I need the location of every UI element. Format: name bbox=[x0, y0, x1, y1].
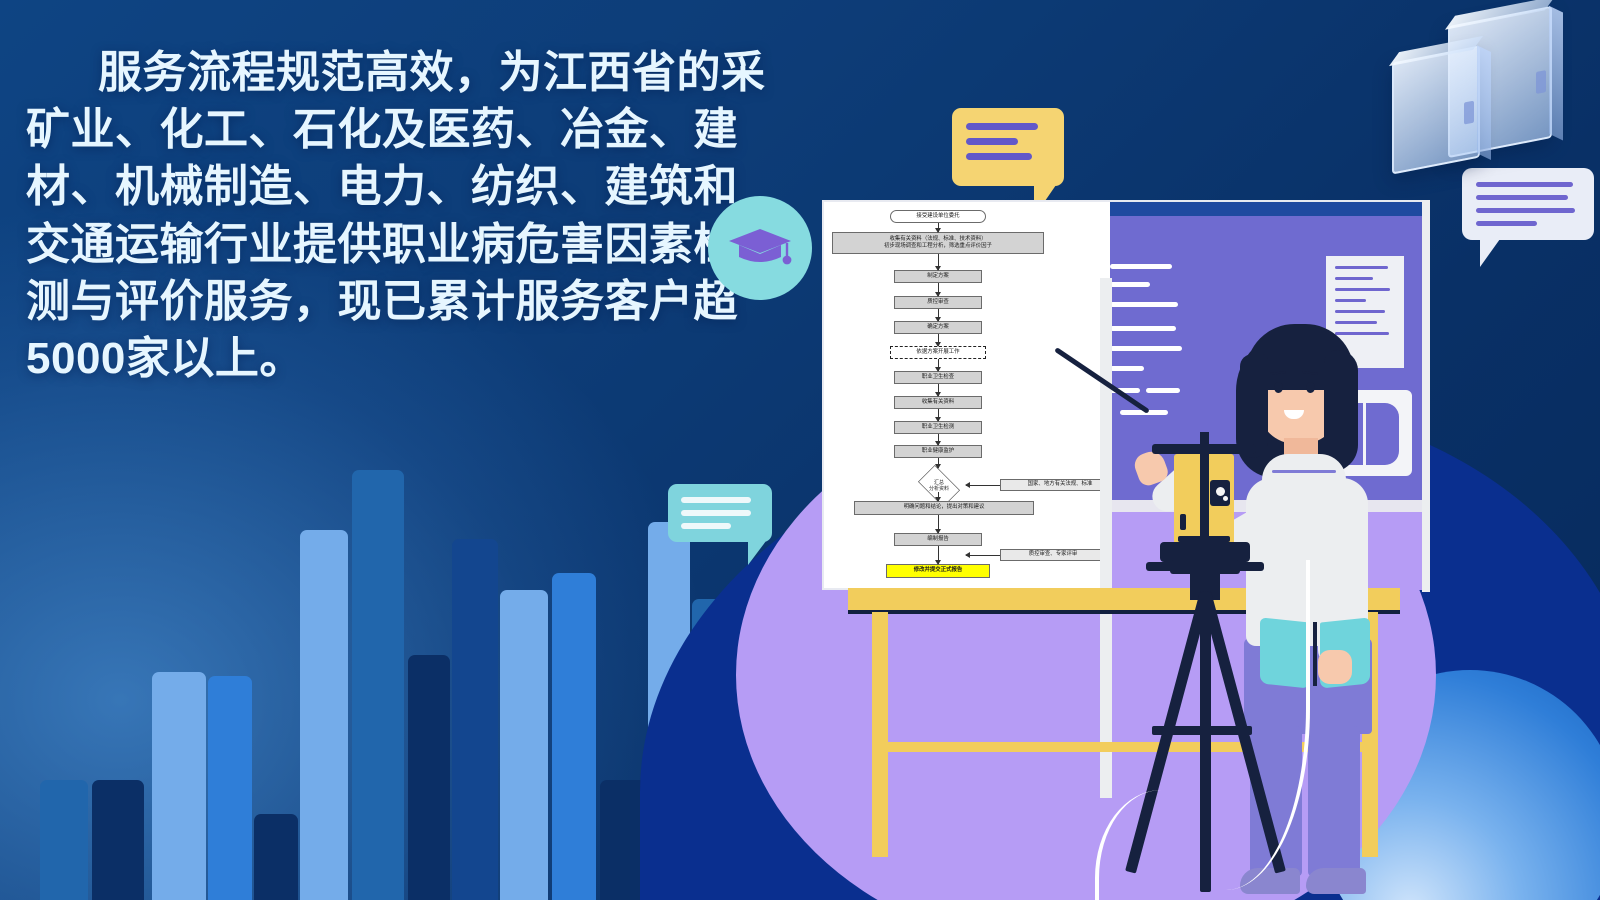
flow-node: 接受建设单位委托 bbox=[890, 210, 986, 223]
flow-arrow bbox=[938, 359, 939, 371]
flow-node: 收集有关资料（法规、标准、技术资料） 初步现场调查和工程分析，筛选重点评价因子 bbox=[832, 232, 1044, 254]
chart-bar bbox=[254, 814, 298, 900]
flow-arrow bbox=[938, 384, 939, 396]
chart-bar bbox=[40, 780, 88, 900]
flow-node: 质控审查 bbox=[894, 296, 982, 309]
flow-arrow bbox=[938, 515, 939, 533]
page-title: 服务流程规范高效，为江西省的采矿业、化工、石化及医药、冶金、建材、机械制造、电力… bbox=[26, 44, 766, 387]
flow-arrow bbox=[938, 223, 939, 232]
chart-bar bbox=[92, 780, 144, 900]
flow-arrow bbox=[938, 458, 939, 468]
chart-bar bbox=[552, 573, 596, 900]
chart-bar bbox=[208, 676, 252, 900]
flow-connector bbox=[966, 555, 1000, 556]
chart-bar bbox=[152, 672, 206, 900]
flow-node: 收集有关资料 bbox=[894, 396, 982, 409]
speech-bubble-icon bbox=[668, 484, 772, 542]
flow-node: 制定方案 bbox=[894, 270, 982, 283]
chart-bar bbox=[352, 470, 404, 900]
graduation-cap-icon bbox=[708, 196, 812, 300]
flow-node: 职业健康监护 bbox=[894, 445, 982, 458]
flow-node: 确定方案 bbox=[894, 321, 982, 334]
chart-bar bbox=[300, 530, 348, 900]
flow-arrow bbox=[938, 409, 939, 421]
flow-arrow bbox=[938, 492, 939, 501]
flow-arrow bbox=[938, 309, 939, 321]
chalkboard-top-rail bbox=[1110, 202, 1426, 216]
chart-bar bbox=[500, 590, 548, 900]
shoe-right bbox=[1306, 868, 1366, 894]
flow-node-reference: 国家、地方有关法规、标准 bbox=[1000, 479, 1110, 491]
flow-arrow bbox=[938, 434, 939, 445]
books-icon bbox=[1386, 6, 1596, 186]
flow-arrow bbox=[938, 283, 939, 296]
poster-canvas: 服务流程规范高效，为江西省的采矿业、化工、石化及医药、冶金、建材、机械制造、电力… bbox=[0, 0, 1600, 900]
flow-node: 修改并提交正式报告 bbox=[886, 564, 990, 578]
flow-node: 编制报告 bbox=[894, 533, 982, 546]
flow-arrow bbox=[938, 254, 939, 270]
flow-node: 职业卫生检测 bbox=[894, 421, 982, 434]
flow-node: 职业卫生检查 bbox=[894, 371, 982, 384]
decorative-bar-chart bbox=[0, 430, 720, 900]
flow-node: 依据方案开展工作 bbox=[890, 346, 986, 359]
flowchart-panel: 接受建设单位委托收集有关资料（法规、标准、技术资料） 初步现场调查和工程分析，筛… bbox=[824, 202, 1110, 588]
flow-connector bbox=[966, 485, 1000, 486]
speech-bubble-icon bbox=[952, 108, 1064, 186]
measuring-device bbox=[1174, 454, 1234, 550]
flow-arrow bbox=[938, 546, 939, 564]
flow-node: 明确问题和结论，提出对策和建议 bbox=[854, 501, 1034, 515]
chart-bar bbox=[408, 655, 450, 900]
flow-node-reference: 质控审查、专家评审 bbox=[1000, 549, 1106, 561]
table-leg-left bbox=[872, 612, 888, 857]
chart-bar bbox=[452, 539, 498, 900]
flow-arrow bbox=[938, 334, 939, 346]
